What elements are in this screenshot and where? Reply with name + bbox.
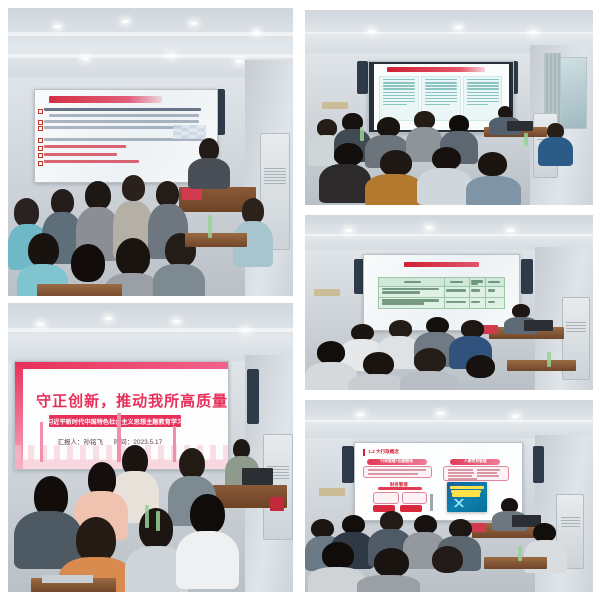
wall-speaker-left: [357, 61, 369, 94]
slide-column-1: [379, 76, 418, 122]
panel-right-middle: 2015年以来国家基金项目申报: [305, 215, 593, 390]
group-left-box: [363, 466, 432, 478]
group-right-box: [443, 466, 508, 480]
projection-screen: 1.2 大行政概念 行政管理+后勤服务 人事劳资管理: [354, 442, 523, 521]
wall-speaker-right: [247, 369, 258, 424]
panel-right-bottom: 1.2 大行政概念 行政管理+后勤服务 人事劳资管理: [305, 400, 593, 592]
side-vertical-label: [430, 494, 433, 511]
panel-bottom-left: 守正创新，推动我所高质量发展 习近平新时代中国特色社会主义思想主题教育学习 汇报…: [8, 303, 293, 592]
slide-main-title: 守正创新，推动我所高质量发展: [36, 390, 211, 411]
center-subtitle-bar: [378, 487, 421, 490]
wall-speaker-right: [521, 259, 533, 294]
grant-table: [378, 277, 506, 309]
wall-speaker-right: [533, 446, 545, 482]
slide-mosaic-block: [173, 125, 206, 140]
book-cover: [447, 482, 487, 513]
panel-top-left: 马克思主义世界观和方法论的本质内容是什么？: [8, 8, 293, 296]
slide-subtitle-badge: 习近平新时代中国特色社会主义思想主题教育学习: [49, 415, 182, 427]
red-box-2: [400, 505, 422, 512]
slide-title-bar: [49, 96, 162, 103]
slide-subtitle-text: 习近平新时代中国特色社会主义思想主题教育学习: [47, 417, 183, 426]
photo-collage: 马克思主义世界观和方法论的本质内容是什么？: [0, 0, 600, 600]
presenter-laptop: [242, 468, 273, 485]
wall-speaker-left: [342, 446, 354, 482]
slide-column-3: [463, 76, 502, 122]
group-right-title: 人事劳资管理: [464, 459, 487, 464]
flow-box-2: [402, 492, 427, 504]
group-right-pill: 人事劳资管理: [450, 459, 500, 465]
presenter-body: [188, 158, 231, 190]
group-left-pill: 行政管理+后勤服务: [367, 459, 427, 465]
presenter-laptop: [524, 320, 553, 331]
heading-accent-bar: [363, 449, 365, 455]
presenter-laptop: [507, 121, 533, 131]
table-slide-title: [404, 262, 479, 267]
group-left-title: 行政管理+后勤服务: [380, 459, 413, 464]
panel-right-top: 习近平新时代中国特色社会主义思想的核心要义：十个明确: [305, 10, 593, 205]
slide-heading: 1.2 大行政概念: [368, 449, 399, 455]
window: [559, 57, 587, 129]
wall-plaque: [322, 102, 348, 110]
name-card: [182, 188, 202, 200]
slide-title-bar: [387, 67, 485, 71]
audience-desk: [185, 233, 248, 247]
flow-box-1: [373, 492, 398, 504]
